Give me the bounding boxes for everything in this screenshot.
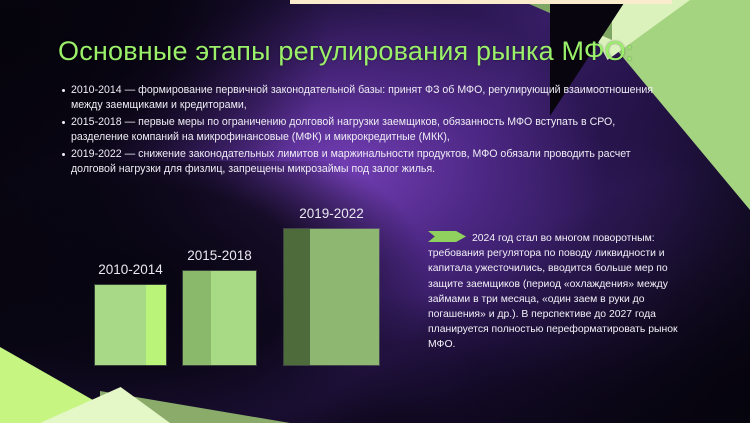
bullet-item: 2019-2022 — снижение законодательных лим… bbox=[64, 147, 670, 178]
side-note-text: 2024 год стал во многом поворотным: треб… bbox=[428, 233, 678, 350]
bullet-item: 2015-2018 — первые меры по ограничению д… bbox=[64, 115, 670, 146]
bar-chart: 2010-2014 2015-2018 2019-2022 bbox=[0, 190, 420, 375]
bar-segment-body bbox=[310, 229, 379, 365]
bar-segment-body bbox=[95, 285, 146, 365]
bar-2010-2014 bbox=[95, 285, 166, 365]
bar-group-2019-2022: 2019-2022 bbox=[284, 229, 379, 365]
side-note-block: 2024 год стал во многом поворотным: треб… bbox=[428, 231, 696, 353]
bullet-item: 2010-2014 — формирование первичной закон… bbox=[64, 83, 670, 114]
bar-segment-shadow bbox=[284, 229, 310, 365]
bar-group-2010-2014: 2010-2014 bbox=[95, 285, 166, 365]
bullet-list: 2010-2014 — формирование первичной закон… bbox=[46, 83, 670, 178]
bar-segment-shadow bbox=[183, 271, 211, 365]
bar-segment-highlight bbox=[146, 285, 166, 365]
bar-label: 2010-2014 bbox=[98, 262, 163, 277]
bar-2015-2018 bbox=[183, 271, 256, 365]
bar-label: 2019-2022 bbox=[299, 206, 364, 221]
bar-segment-body bbox=[211, 271, 256, 365]
bar-2019-2022 bbox=[284, 229, 379, 365]
bar-group-2015-2018: 2015-2018 bbox=[183, 271, 256, 365]
bar-label: 2015-2018 bbox=[187, 248, 252, 263]
arrow-right-banner-icon bbox=[428, 231, 466, 242]
slide-title: Основные этапы регулирования рынка МФО: bbox=[58, 36, 634, 67]
presentation-slide: Основные этапы регулирования рынка МФО: … bbox=[0, 0, 750, 423]
